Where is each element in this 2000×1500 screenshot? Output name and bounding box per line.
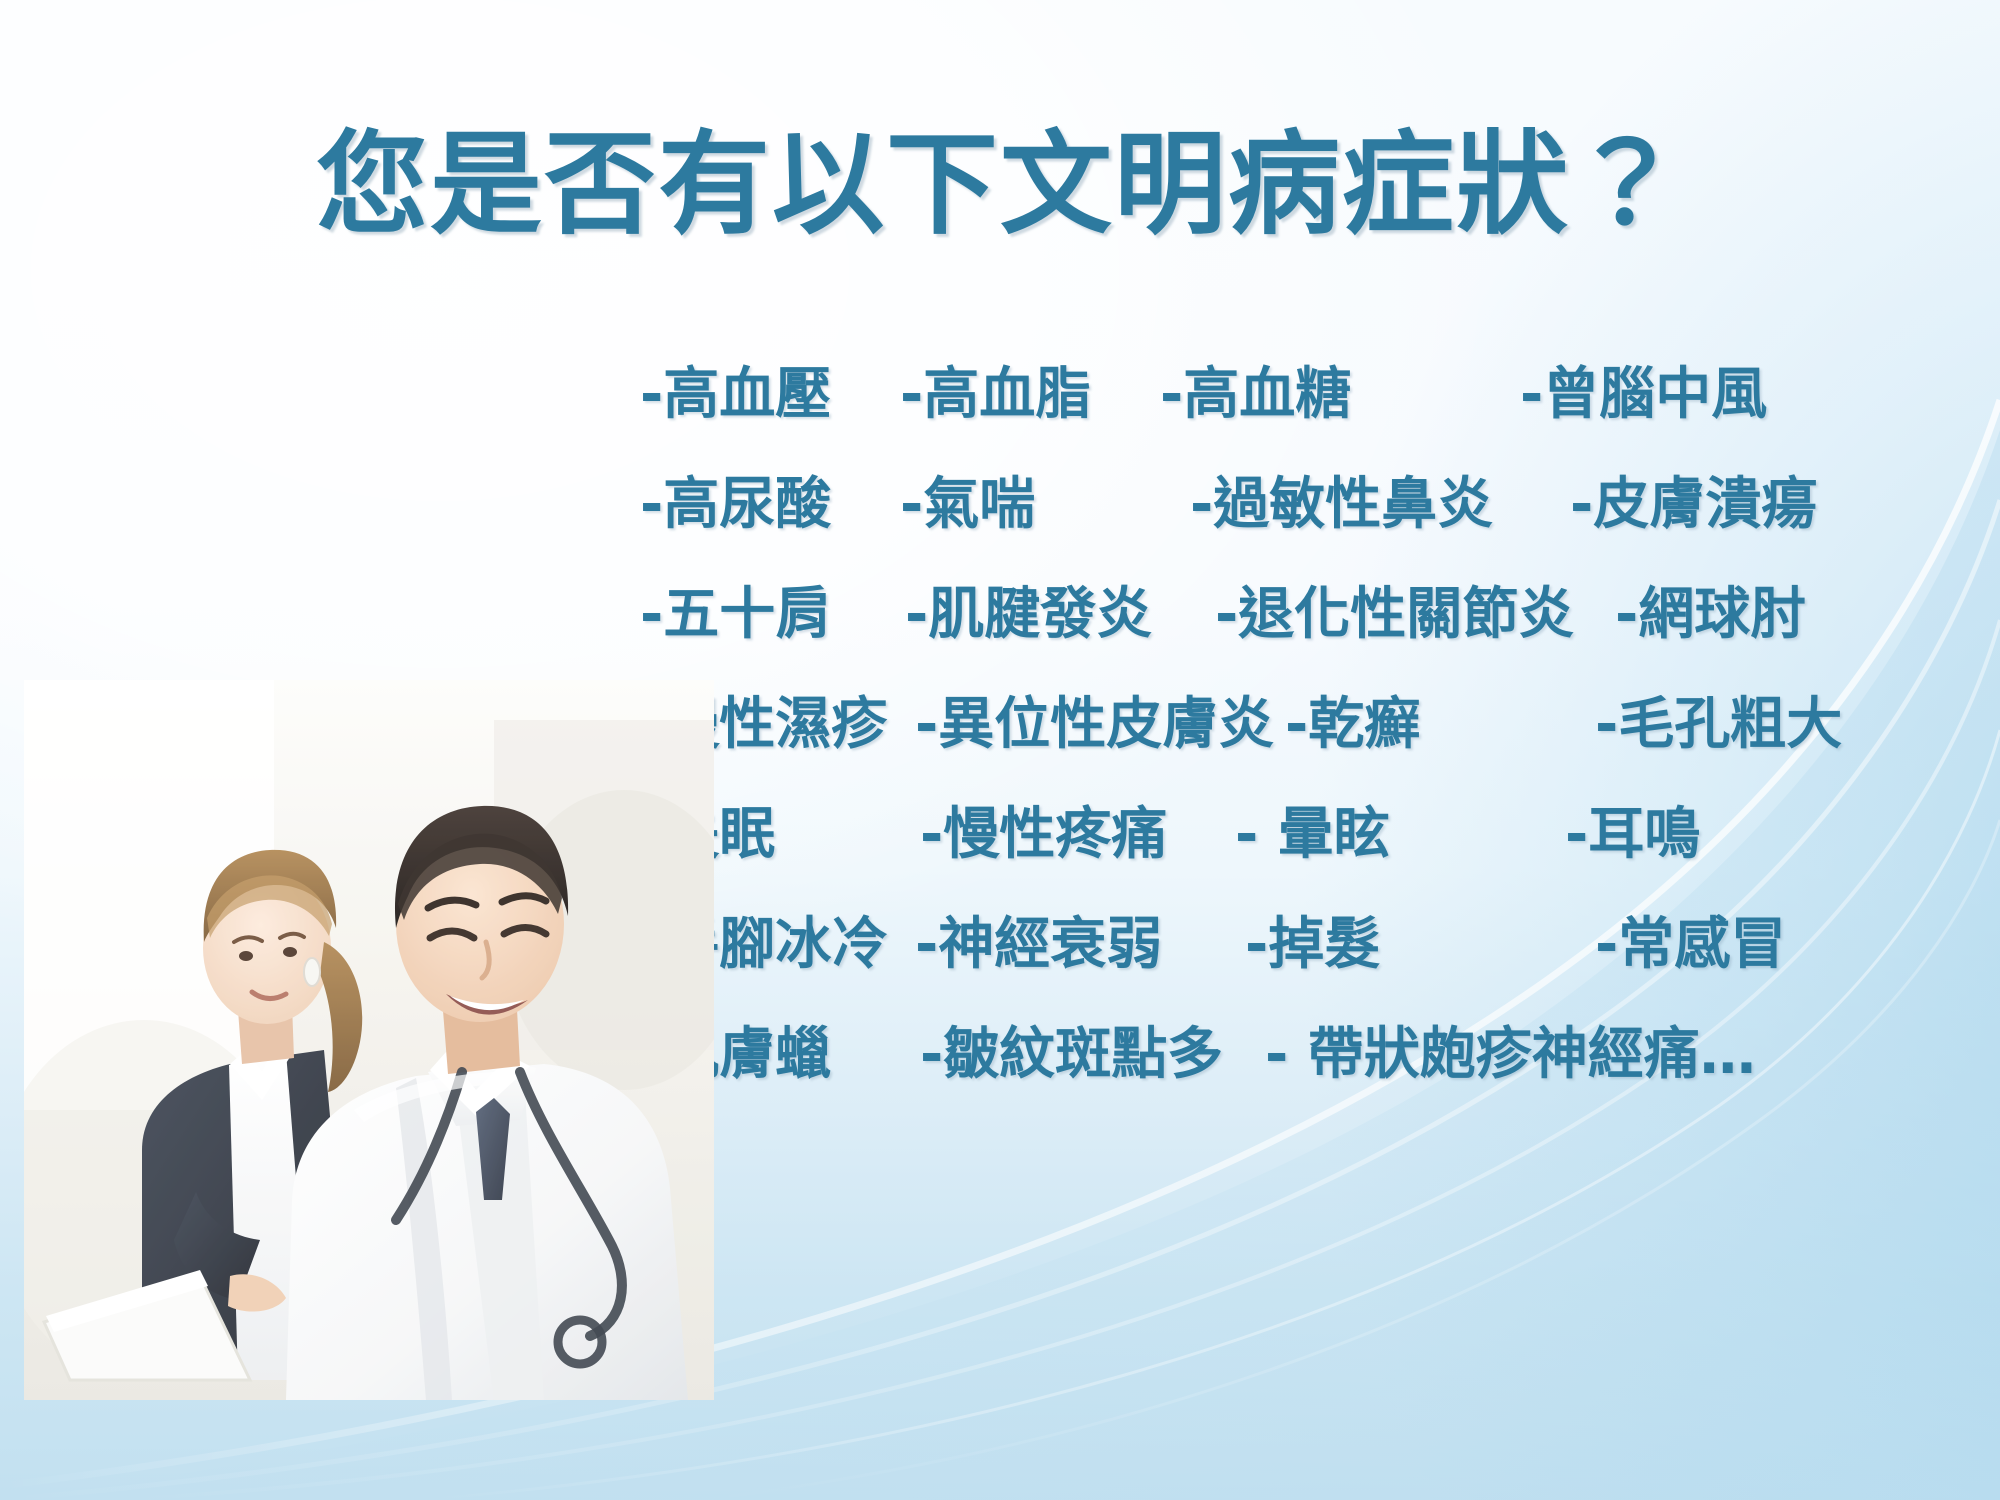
symptom-row: -慢性濕疹 -異位性皮膚炎 -乾癬 -毛孔粗大 xyxy=(640,670,1970,780)
symptom-item: - 帶狀皰疹神經痛… xyxy=(1265,1000,1756,1110)
symptom-item: -高血脂 xyxy=(900,340,1160,450)
symptom-item: -神經衰弱 xyxy=(915,890,1245,1000)
symptom-item: -異位性皮膚炎 xyxy=(915,670,1285,780)
symptom-item: -乾癬 xyxy=(1285,670,1595,780)
symptom-item: -常感冒 xyxy=(1595,890,1786,1000)
symptom-list: -高血壓 -高血脂 -高血糖 -曾腦中風 -高尿酸 -氣喘 -過敏性鼻炎 -皮膚… xyxy=(640,340,1970,1110)
symptom-row: -高尿酸 -氣喘 -過敏性鼻炎 -皮膚潰瘍 xyxy=(640,450,1970,560)
symptom-item: -皺紋斑點多 xyxy=(920,1000,1265,1110)
symptom-item: -高血糖 xyxy=(1160,340,1520,450)
symptom-item: -網球肘 xyxy=(1615,560,1806,670)
symptom-item: -皮膚潰瘍 xyxy=(1570,450,1817,560)
symptom-item: -慢性疼痛 xyxy=(920,780,1235,890)
doctor-and-professional-photo xyxy=(24,680,714,1400)
symptom-item: -退化性關節炎 xyxy=(1215,560,1615,670)
symptom-row: -五十肩 -肌腱發炎 -退化性關節炎 -網球肘 xyxy=(640,560,1970,670)
symptom-item: -曾腦中風 xyxy=(1520,340,1767,450)
symptom-item: -過敏性鼻炎 xyxy=(1190,450,1570,560)
symptom-item: -耳鳴 xyxy=(1565,780,1700,890)
slide-title: 您是否有以下文明病症狀？ xyxy=(0,123,2000,248)
symptom-item: -五十肩 xyxy=(640,560,905,670)
symptom-item: -毛孔粗大 xyxy=(1595,670,1842,780)
symptom-row: -肌膚蠟 -皺紋斑點多 - 帶狀皰疹神經痛… xyxy=(640,1000,1970,1110)
symptom-row: -高血壓 -高血脂 -高血糖 -曾腦中風 xyxy=(640,340,1970,450)
symptom-item: - 暈眩 xyxy=(1235,780,1565,890)
symptom-row: -失眠 -慢性疼痛 - 暈眩 -耳鳴 xyxy=(640,780,1970,890)
symptom-row: -手腳冰冷 -神經衰弱 -掉髮 -常感冒 xyxy=(640,890,1970,1000)
symptom-item: -高尿酸 xyxy=(640,450,900,560)
slide-canvas: 您是否有以下文明病症狀？ -高血壓 -高血脂 -高血糖 -曾腦中風 -高尿酸 -… xyxy=(0,0,2000,1500)
symptom-item: -氣喘 xyxy=(900,450,1190,560)
symptom-item: -肌腱發炎 xyxy=(905,560,1215,670)
symptom-item: -掉髮 xyxy=(1245,890,1595,1000)
symptom-item: -高血壓 xyxy=(640,340,900,450)
